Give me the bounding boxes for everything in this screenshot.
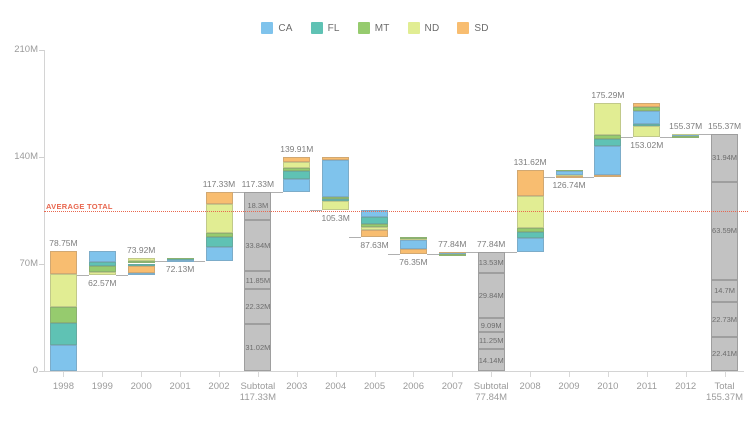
y-tick-label: 210M bbox=[4, 44, 38, 55]
bar-value-label: 139.91M bbox=[267, 144, 327, 154]
bar-value-label: 131.62M bbox=[500, 157, 560, 167]
bar-segment-sd[interactable] bbox=[400, 249, 427, 254]
segment-value-label: 31.02M bbox=[245, 343, 270, 352]
bar-2005-8[interactable] bbox=[361, 210, 388, 237]
y-tick-label: 140M bbox=[4, 151, 38, 162]
bar-segment-ca[interactable] bbox=[517, 238, 544, 252]
x-tick-label-total-17[interactable]: Total155.37M bbox=[693, 381, 750, 403]
bar-value-label: 72.13M bbox=[150, 264, 210, 274]
bar-segment-mt[interactable] bbox=[672, 136, 699, 138]
bar-segment-mt[interactable]: 9.09M bbox=[478, 318, 505, 332]
x-tick-mark bbox=[530, 372, 531, 377]
bar-segment-nd[interactable]: 29.84M bbox=[478, 273, 505, 319]
bar-segment-fl[interactable] bbox=[283, 171, 310, 179]
bar-2012-16[interactable] bbox=[672, 134, 699, 138]
bar-2004-7[interactable] bbox=[322, 157, 349, 210]
bar-2002-4[interactable] bbox=[206, 192, 233, 261]
bar-1998-0[interactable] bbox=[50, 251, 77, 371]
bar-value-label: 78.75M bbox=[33, 238, 93, 248]
average-total-label: AVERAGE TOTAL bbox=[46, 202, 113, 211]
segment-value-label: 22.73M bbox=[712, 315, 737, 324]
bar-value-label: 105.3M bbox=[306, 213, 366, 223]
bar-segment-ca[interactable]: 22.41M bbox=[711, 337, 738, 371]
average-total-line bbox=[44, 211, 748, 212]
bar-value-label: 62.57M bbox=[72, 278, 132, 288]
bar-value-label: 153.02M bbox=[617, 140, 677, 150]
waterfall-connector bbox=[544, 177, 556, 178]
bar-2003-6[interactable] bbox=[283, 157, 310, 192]
x-tick-label-subvalue: 155.37M bbox=[693, 392, 750, 403]
bar-segment-ca[interactable] bbox=[206, 247, 233, 261]
x-tick-mark bbox=[219, 372, 220, 377]
bar-value-label: 117.33M bbox=[228, 179, 288, 189]
bar-segment-ca[interactable]: 31.02M bbox=[244, 324, 271, 371]
segment-value-label: 14.14M bbox=[479, 356, 504, 365]
x-tick-mark bbox=[686, 372, 687, 377]
waterfall-connector bbox=[583, 177, 595, 178]
waterfall-connector bbox=[660, 137, 672, 138]
segment-value-label: 31.94M bbox=[712, 153, 737, 162]
segment-value-label: 29.84M bbox=[479, 291, 504, 300]
waterfall-connector bbox=[155, 261, 167, 262]
segment-value-label: 22.41M bbox=[712, 349, 737, 358]
bar-segment-fl[interactable]: 22.32M bbox=[244, 289, 271, 323]
bar-subtotal-11[interactable]: 13.53M29.84M9.09M11.25M14.14M bbox=[478, 252, 505, 371]
bar-segment-sd[interactable] bbox=[361, 230, 388, 237]
bar-segment-nd[interactable] bbox=[322, 201, 349, 210]
bar-segment-fl[interactable]: 11.25M bbox=[478, 332, 505, 349]
waterfall-connector bbox=[194, 261, 206, 262]
bar-segment-nd[interactable]: 63.59M bbox=[711, 182, 738, 279]
segment-value-label: 63.59M bbox=[712, 226, 737, 235]
bar-segment-fl[interactable] bbox=[206, 237, 233, 247]
bar-segment-fl[interactable] bbox=[50, 323, 77, 344]
y-tick-mark bbox=[39, 371, 44, 372]
bar-segment-sd[interactable]: 13.53M bbox=[478, 252, 505, 273]
segment-value-label: 33.84M bbox=[245, 241, 270, 250]
waterfall-connector bbox=[271, 192, 283, 193]
bar-2009-13[interactable] bbox=[556, 170, 583, 177]
segment-value-label: 13.53M bbox=[479, 258, 504, 267]
waterfall-connector bbox=[427, 254, 439, 255]
bar-segment-mt[interactable]: 11.85M bbox=[244, 271, 271, 289]
x-tick-mark bbox=[375, 372, 376, 377]
bar-value-label: 87.63M bbox=[345, 240, 405, 250]
bar-subtotal-5[interactable]: 18.3M33.84M11.85M22.32M31.02M bbox=[244, 192, 271, 371]
segment-value-label: 11.25M bbox=[479, 336, 503, 345]
plot-area: 070M140M210M78.75M199862.57M199973.92M20… bbox=[0, 0, 750, 422]
x-tick-mark bbox=[452, 372, 453, 377]
bar-segment-sd[interactable] bbox=[556, 176, 583, 178]
x-tick-mark bbox=[569, 372, 570, 377]
bar-segment-sd[interactable]: 31.94M bbox=[711, 134, 738, 183]
bar-segment-nd[interactable] bbox=[517, 196, 544, 228]
waterfall-chart-root: CAFLMTNDSD 070M140M210M78.75M199862.57M1… bbox=[0, 0, 750, 422]
waterfall-connector bbox=[466, 252, 478, 253]
bar-segment-ca[interactable] bbox=[50, 345, 77, 371]
bar-2001-3[interactable] bbox=[167, 258, 194, 261]
x-tick-mark bbox=[413, 372, 414, 377]
bar-segment-nd[interactable] bbox=[594, 103, 621, 135]
bar-segment-sd[interactable] bbox=[594, 175, 621, 178]
waterfall-connector bbox=[116, 275, 128, 276]
bar-2007-10[interactable] bbox=[439, 252, 466, 254]
segment-value-label: 14.7M bbox=[714, 286, 735, 295]
waterfall-connector bbox=[233, 192, 245, 193]
x-tick-mark bbox=[297, 372, 298, 377]
bar-segment-fl[interactable] bbox=[361, 217, 388, 224]
waterfall-connector bbox=[388, 254, 400, 255]
x-tick-mark bbox=[491, 372, 492, 377]
bar-value-label: 126.74M bbox=[539, 180, 599, 190]
waterfall-connector bbox=[699, 134, 711, 135]
bar-segment-mt[interactable] bbox=[50, 307, 77, 323]
x-tick-mark bbox=[258, 372, 259, 377]
y-tick-label: 0 bbox=[4, 365, 38, 376]
x-tick-mark bbox=[608, 372, 609, 377]
x-axis-line bbox=[44, 371, 744, 372]
y-tick-mark bbox=[39, 264, 44, 265]
bar-segment-nd[interactable]: 33.84M bbox=[244, 220, 271, 272]
bar-value-label: 73.92M bbox=[111, 245, 171, 255]
waterfall-connector bbox=[505, 252, 517, 253]
x-tick-label-text: Total bbox=[693, 381, 750, 392]
bar-value-label: 175.29M bbox=[578, 90, 638, 100]
x-tick-mark bbox=[141, 372, 142, 377]
bar-segment-mt[interactable] bbox=[439, 254, 466, 256]
x-tick-mark bbox=[63, 372, 64, 377]
bar-segment-sd[interactable] bbox=[50, 251, 77, 274]
x-tick-mark bbox=[647, 372, 648, 377]
y-tick-label: 70M bbox=[4, 258, 38, 269]
bar-segment-ca[interactable] bbox=[322, 160, 349, 197]
bar-segment-mt[interactable]: 14.7M bbox=[711, 280, 738, 302]
bar-segment-sd[interactable] bbox=[206, 192, 233, 204]
bar-value-label: 76.35M bbox=[383, 257, 443, 267]
y-tick-mark bbox=[39, 50, 44, 51]
waterfall-connector bbox=[349, 237, 361, 238]
bar-segment-sd[interactable]: 18.3M bbox=[244, 192, 271, 220]
bar-segment-ca[interactable]: 14.14M bbox=[478, 349, 505, 371]
bar-segment-nd[interactable] bbox=[206, 204, 233, 233]
bar-value-label: 155.37M bbox=[695, 121, 750, 131]
bar-segment-ca[interactable] bbox=[283, 179, 310, 192]
bar-total-17[interactable]: 31.94M63.59M14.7M22.73M22.41M bbox=[711, 134, 738, 371]
x-tick-mark bbox=[725, 372, 726, 377]
x-tick-label-subvalue: 77.84M bbox=[459, 392, 523, 403]
segment-value-label: 18.3M bbox=[247, 201, 268, 210]
x-tick-mark bbox=[102, 372, 103, 377]
segment-value-label: 22.32M bbox=[245, 302, 270, 311]
bar-value-label: 77.84M bbox=[461, 239, 521, 249]
x-tick-label-subvalue: 117.33M bbox=[226, 392, 290, 403]
segment-value-label: 11.85M bbox=[246, 276, 270, 285]
waterfall-connector bbox=[621, 137, 633, 138]
x-tick-mark bbox=[180, 372, 181, 377]
bar-segment-ca[interactable] bbox=[167, 260, 194, 262]
segment-value-label: 9.09M bbox=[481, 321, 502, 330]
waterfall-connector bbox=[77, 275, 89, 276]
bar-segment-nd[interactable] bbox=[89, 272, 116, 276]
y-tick-mark bbox=[39, 157, 44, 158]
bar-segment-fl[interactable]: 22.73M bbox=[711, 302, 738, 337]
x-tick-mark bbox=[336, 372, 337, 377]
